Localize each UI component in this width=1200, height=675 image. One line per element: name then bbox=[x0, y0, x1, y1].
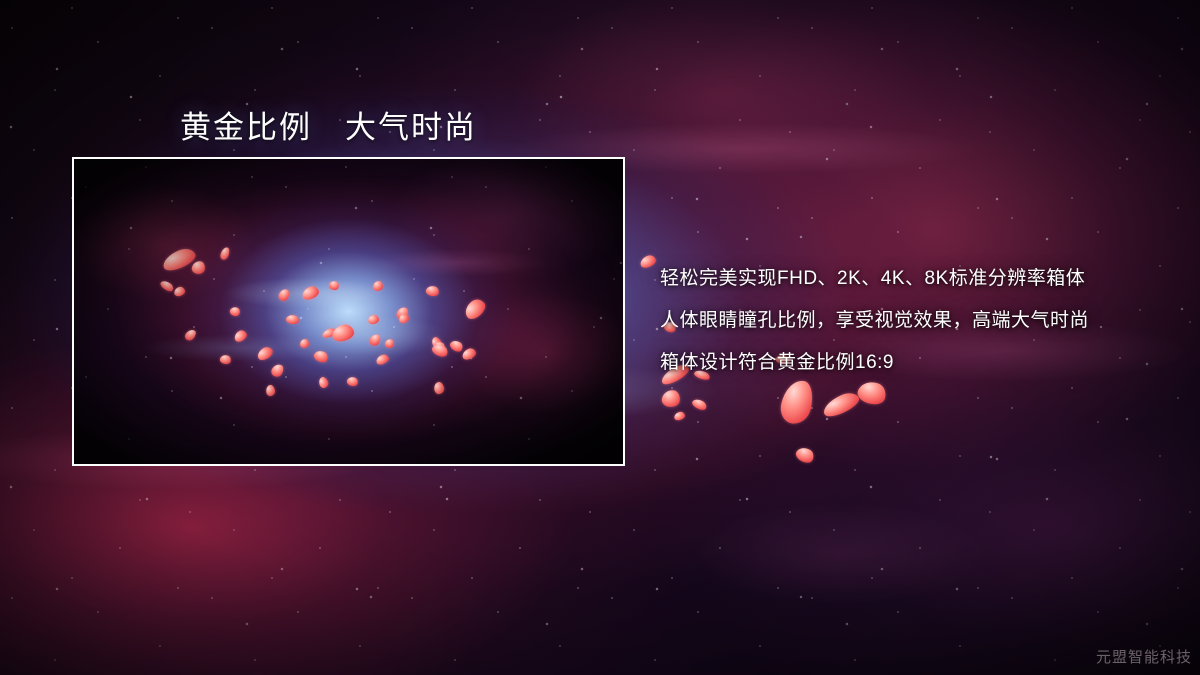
watermark: 元盟智能科技 bbox=[1096, 646, 1192, 667]
petal bbox=[661, 389, 681, 408]
petal bbox=[778, 377, 816, 426]
framed-image bbox=[72, 157, 625, 466]
petal bbox=[794, 444, 817, 465]
petal bbox=[691, 397, 708, 412]
slide-root: 黄金比例 大气时尚 轻松完美实现FHD、2K、4K、8K标准分辨率箱体 人体眼睛… bbox=[0, 0, 1200, 675]
body-line-1: 轻松完美实现FHD、2K、4K、8K标准分辨率箱体 bbox=[660, 258, 1180, 300]
petal bbox=[639, 254, 658, 270]
body-line-3: 箱体设计符合黄金比例16:9 bbox=[660, 342, 1180, 384]
body-copy: 轻松完美实现FHD、2K、4K、8K标准分辨率箱体 人体眼睛瞳孔比例，享受视觉效… bbox=[660, 258, 1180, 384]
framed-image-content bbox=[74, 159, 623, 464]
body-line-2: 人体眼睛瞳孔比例，享受视觉效果，高端大气时尚 bbox=[660, 300, 1180, 342]
framed-vignette bbox=[74, 159, 623, 464]
petal bbox=[820, 389, 862, 420]
page-title: 黄金比例 大气时尚 bbox=[180, 102, 477, 147]
petal bbox=[673, 411, 686, 422]
